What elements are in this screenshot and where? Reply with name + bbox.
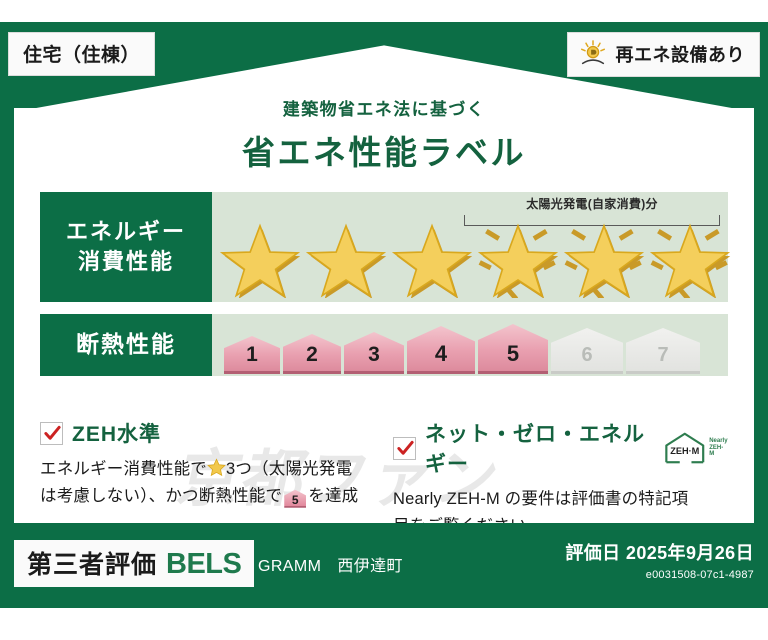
footer-bar: 第三者評価 BELS GRAMM西伊達町 評価日 2025年9月26日 e003… bbox=[0, 523, 768, 608]
evaluation-date: 評価日 2025年9月26日 bbox=[565, 539, 754, 565]
bels-certification-box: 第三者評価 BELS bbox=[14, 540, 254, 587]
insulation-level-7: 7 bbox=[626, 328, 700, 374]
insulation-label-text: 断熱性能 bbox=[76, 329, 176, 360]
insulation-performance-label: 断熱性能 bbox=[40, 314, 212, 376]
sun-solar-icon bbox=[578, 39, 608, 69]
star-icon bbox=[218, 216, 302, 298]
house-type-tag: 住宅（住棟） bbox=[8, 32, 155, 76]
star-solar-icon bbox=[562, 216, 646, 298]
insulation-level-3: 3 bbox=[344, 332, 404, 374]
star-solar-icon bbox=[648, 216, 732, 298]
claim-zeh-text-1: エネルギー消費性能で bbox=[40, 460, 207, 478]
insulation-level-scale: 1234567 bbox=[224, 324, 700, 374]
evaluation-info: 評価日 2025年9月26日 e0031508-07c1-4987 bbox=[565, 539, 754, 581]
zeh-m-logo: ZEH·M NearlyZEH-M bbox=[663, 431, 728, 465]
owner-area: 西伊達町 bbox=[337, 558, 403, 575]
performance-rows: エネルギー 消費性能 太陽光発電(自家消費)分 断熱性能 1234567 bbox=[40, 192, 728, 388]
claims-section: ZEH水準 エネルギー消費性能で3つ（太陽光発電 は考慮しない）、かつ断熱性能で… bbox=[40, 418, 728, 539]
insulation-level-5: 5 bbox=[478, 324, 548, 374]
claim-zeh-text-4: を達成 bbox=[308, 487, 358, 505]
insulation-level-2: 2 bbox=[283, 334, 341, 374]
star-icon bbox=[304, 216, 388, 298]
renewable-equipment-tag: 再エネ設備あり bbox=[567, 32, 761, 77]
insulation-level-1: 1 bbox=[224, 336, 280, 374]
claim-nze-text-1: Nearly ZEH-M の要件は評価書の特記項 bbox=[393, 490, 688, 508]
insulation-performance-row: 断熱性能 1234567 bbox=[40, 314, 728, 376]
star-solar-icon bbox=[476, 216, 560, 298]
zeh-m-house-icon: ZEH·M bbox=[663, 431, 707, 465]
check-icon bbox=[393, 437, 416, 460]
insulation-level-4: 4 bbox=[407, 326, 475, 374]
star-icon bbox=[390, 216, 474, 298]
energy-performance-row: エネルギー 消費性能 太陽光発電(自家消費)分 bbox=[40, 192, 728, 302]
title-main: 省エネ性能ラベル bbox=[0, 126, 768, 174]
svg-text:ZEH·M: ZEH·M bbox=[670, 446, 699, 456]
solar-bracket-label: 太陽光発電(自家消費)分 bbox=[462, 195, 722, 212]
renewable-equipment-label: 再エネ設備あり bbox=[616, 41, 746, 67]
title-subtitle: 建築物省エネ法に基づく bbox=[0, 95, 768, 120]
owner-info: GRAMM西伊達町 bbox=[258, 552, 403, 576]
house-type-label: 住宅（住棟） bbox=[23, 45, 140, 66]
bels-en-label: BELS bbox=[166, 548, 241, 581]
claim-net-zero-energy: ネット・ゼロ・エネルギー ZEH·M NearlyZEH-M Nearly ZE… bbox=[393, 418, 728, 539]
evaluation-uid: e0031508-07c1-4987 bbox=[565, 569, 754, 581]
insulation-performance-body: 1234567 bbox=[212, 314, 728, 376]
inline-star-icon bbox=[207, 458, 226, 477]
claim-zeh-text-3: は考慮しない）、かつ断熱性能で bbox=[40, 487, 282, 505]
energy-star-rating bbox=[218, 216, 732, 298]
claim-zeh-standard: ZEH水準 エネルギー消費性能で3つ（太陽光発電 は考慮しない）、かつ断熱性能で… bbox=[40, 418, 375, 539]
claim-zeh-title: ZEH水準 bbox=[72, 418, 161, 448]
energy-performance-label: エネルギー 消費性能 bbox=[40, 192, 212, 302]
energy-label-line2: 消費性能 bbox=[78, 247, 174, 277]
claim-nze-header: ネット・ゼロ・エネルギー ZEH·M NearlyZEH-M bbox=[393, 418, 728, 478]
energy-performance-body: 太陽光発電(自家消費)分 bbox=[212, 192, 728, 302]
inline-insulation-badge: 5 bbox=[284, 490, 306, 508]
claim-zeh-body: エネルギー消費性能で3つ（太陽光発電 は考慮しない）、かつ断熱性能で5を達成 bbox=[40, 456, 375, 509]
claim-zeh-header: ZEH水準 bbox=[40, 418, 375, 448]
zeh-m-logo-subtext: NearlyZEH-M bbox=[709, 438, 728, 459]
claim-zeh-text-2: （太陽光発電 bbox=[252, 460, 352, 478]
claim-zeh-star-count: 3つ bbox=[226, 460, 252, 478]
bels-jp-label: 第三者評価 bbox=[27, 545, 157, 581]
claim-nze-title: ネット・ゼロ・エネルギー bbox=[425, 418, 648, 478]
check-icon bbox=[40, 422, 63, 445]
bels-energy-label: 住宅（住棟） 再エネ設備あり 建築物省エネ法に基づく 省エネ性能ラベル bbox=[0, 0, 768, 640]
insulation-level-6: 6 bbox=[551, 328, 623, 374]
energy-label-line1: エネルギー bbox=[66, 217, 186, 247]
owner-brand: GRAMM bbox=[258, 558, 321, 575]
title-block: 建築物省エネ法に基づく 省エネ性能ラベル bbox=[0, 95, 768, 174]
